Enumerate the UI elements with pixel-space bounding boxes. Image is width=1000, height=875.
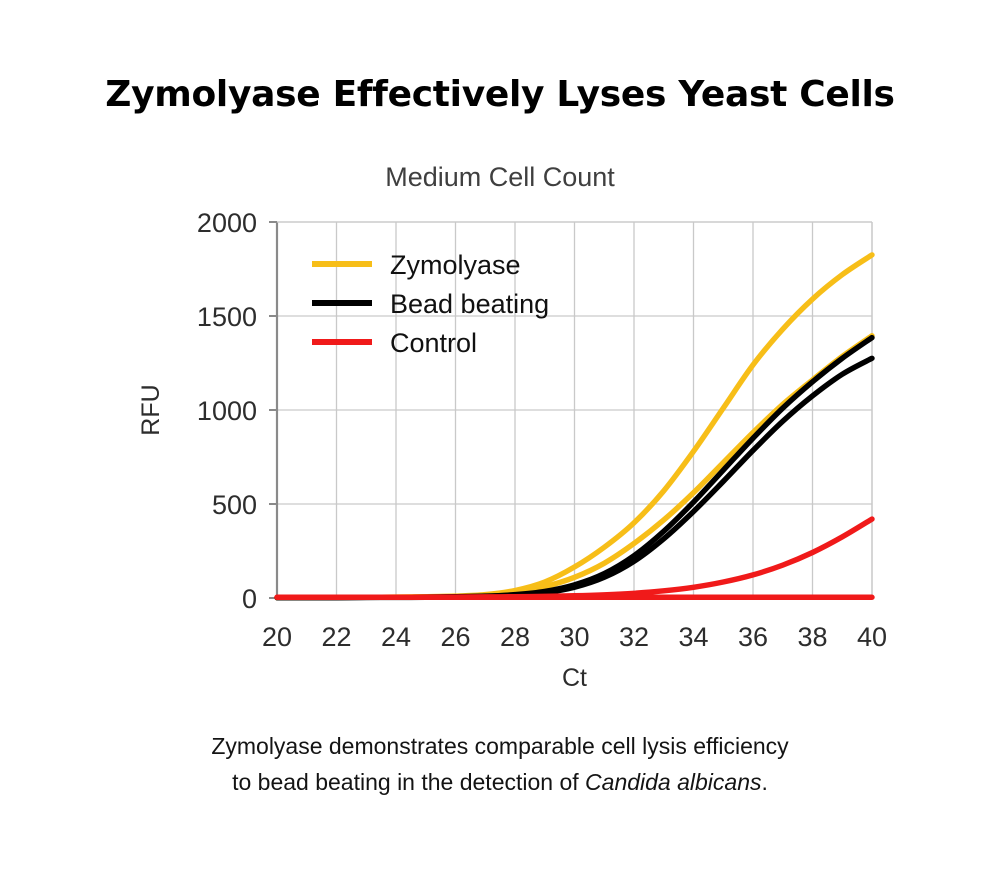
x-tick-labels: 2022242628303234363840 — [262, 622, 887, 652]
x-tick-label: 38 — [797, 622, 827, 652]
x-tick-label: 24 — [381, 622, 411, 652]
legend-label-bead-beating: Bead beating — [390, 289, 549, 319]
y-axis-title: RFU — [137, 384, 165, 435]
x-tick-label: 26 — [440, 622, 470, 652]
x-tick-label: 34 — [678, 622, 708, 652]
x-tick-label: 36 — [738, 622, 768, 652]
legend-label-zymolyase: Zymolyase — [390, 250, 521, 280]
caption-text-post: . — [762, 769, 768, 795]
y-tick-label: 0 — [242, 584, 257, 614]
y-tick-labels: 0500100015002000 — [197, 208, 257, 614]
figure-root: Zymolyase Effectively Lyses Yeast Cells … — [0, 0, 1000, 875]
legend: ZymolyaseBead beatingControl — [312, 250, 549, 358]
y-tick-label: 1500 — [197, 302, 257, 332]
caption-line-1: Zymolyase demonstrates comparable cell l… — [0, 728, 1000, 764]
y-tick-label: 2000 — [197, 208, 257, 238]
y-tick-label: 1000 — [197, 396, 257, 426]
x-axis-title: Ct — [562, 664, 587, 692]
x-tick-label: 30 — [559, 622, 589, 652]
caption-species-name: Candida albicans — [585, 769, 761, 795]
legend-label-control: Control — [390, 328, 477, 358]
x-tick-label: 20 — [262, 622, 292, 652]
figure-caption: Zymolyase demonstrates comparable cell l… — [0, 728, 1000, 800]
caption-text-pre: to bead beating in the detection of — [232, 769, 585, 795]
x-tick-label: 40 — [857, 622, 887, 652]
x-tick-label: 28 — [500, 622, 530, 652]
y-tick-label: 500 — [212, 490, 257, 520]
x-tick-label: 32 — [619, 622, 649, 652]
x-tick-label: 22 — [321, 622, 351, 652]
caption-line-2: to bead beating in the detection of Cand… — [0, 764, 1000, 800]
